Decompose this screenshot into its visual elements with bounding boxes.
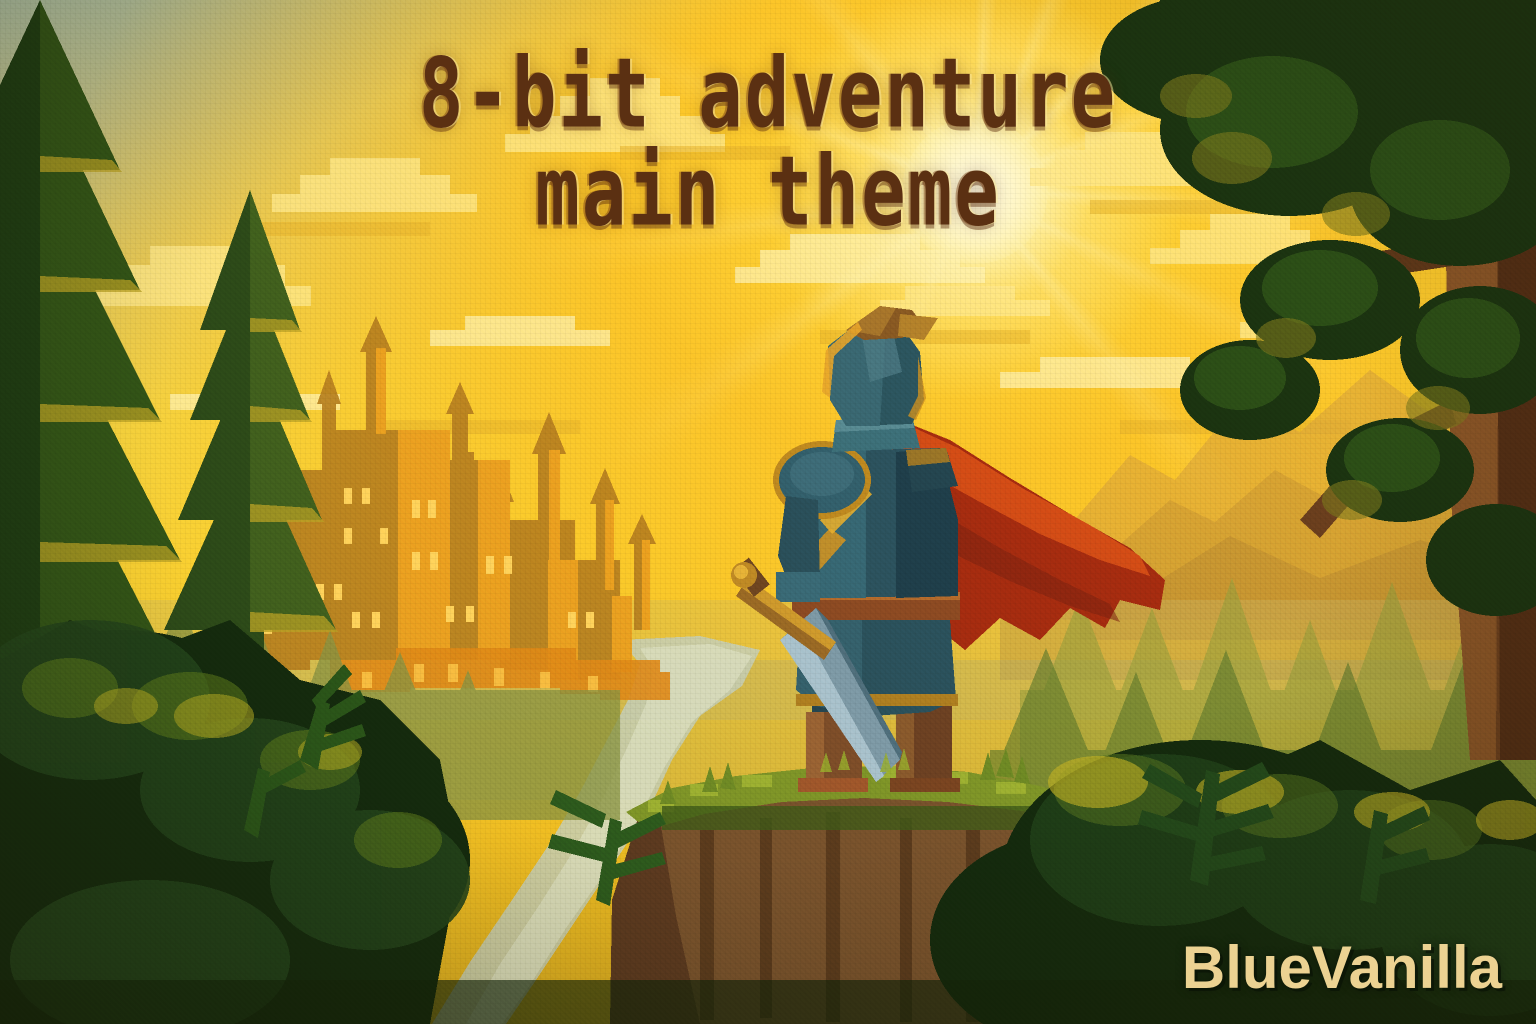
grass-tufts — [0, 0, 1536, 1024]
watermark-text: BlueVanilla — [1182, 933, 1502, 1002]
artwork-canvas: 8-bit adventure main theme BlueVanilla — [0, 0, 1536, 1024]
